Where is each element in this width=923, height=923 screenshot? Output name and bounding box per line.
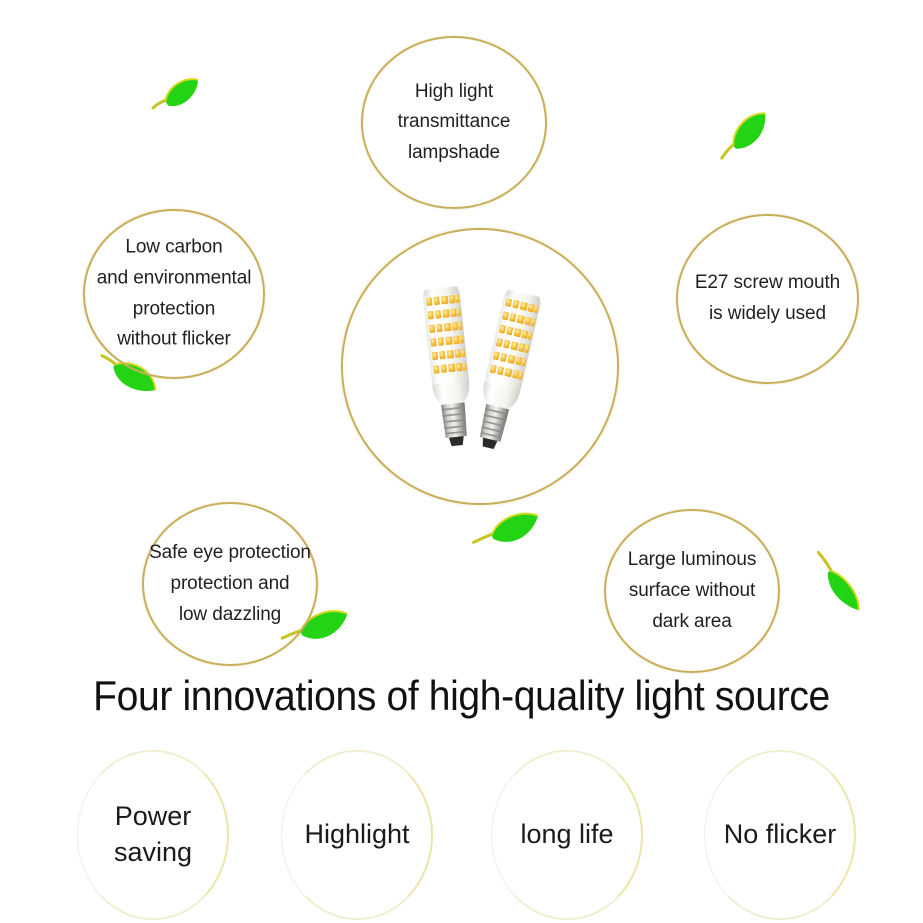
leaf-top-left-icon [140,66,214,124]
feature-bubble-safe-eye-protection[interactable]: Safe eye protection protection and low d… [142,502,318,666]
leaf-right-edge-icon [800,528,874,638]
feature-bubble-large-luminous-surface[interactable]: Large luminous surface without dark area [604,509,780,673]
feature-bubble-label: Low carbon and environmental protection … [64,232,284,355]
product-circle-ring [341,228,619,505]
infographic-canvas: High light transmittance lampshade Low c… [0,0,923,923]
feature-bubble-label: High light transmittance lampshade [364,76,544,168]
feature-bubble-label: E27 screw mouth is widely used [668,268,868,330]
benefit-circle-highlight[interactable]: Highlight [281,750,433,920]
benefit-label: Power saving [114,799,192,871]
leaf-center-bottom-icon [466,500,552,560]
benefit-circle-no-flicker[interactable]: No flicker [704,750,856,920]
leaf-top-right-icon [706,103,786,169]
feature-bubble-label: Large luminous surface without dark area [602,545,782,637]
feature-bubble-high-light-transmittance[interactable]: High light transmittance lampshade [361,36,547,209]
benefit-circle-power-saving[interactable]: Power saving [77,750,229,920]
benefit-label: long life [520,817,613,853]
feature-bubble-low-carbon-protection[interactable]: Low carbon and environmental protection … [83,209,265,379]
section-headline: Four innovations of high-quality light s… [32,672,890,720]
benefit-label: Highlight [304,817,409,853]
benefit-circle-long-life[interactable]: long life [491,750,643,920]
benefits-row: Power saving Highlight long life No flic… [0,750,923,923]
feature-bubble-label: Safe eye protection protection and low d… [125,538,335,630]
feature-bubble-e27-screw-mouth[interactable]: E27 screw mouth is widely used [676,214,859,384]
benefit-label: No flicker [724,817,837,853]
